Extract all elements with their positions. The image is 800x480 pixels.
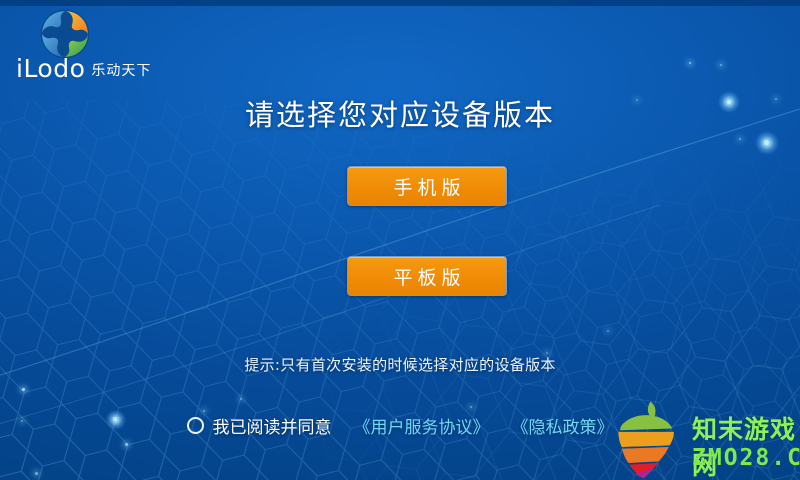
app-screen: iLodo 乐动天下 请选择您对应设备版本 手机版 平板版 提示:只有首次安装的… bbox=[0, 0, 800, 480]
ilodo-swirl-logo-icon bbox=[39, 8, 91, 60]
privacy-policy-link[interactable]: 《隐私政策》 bbox=[512, 413, 614, 438]
brand-logo: iLodo 乐动天下 bbox=[14, 6, 174, 84]
phone-version-button[interactable]: 手机版 bbox=[347, 166, 507, 206]
logo-english-text: iLodo bbox=[16, 56, 85, 81]
agreement-label: 我已阅读并同意 bbox=[213, 413, 332, 438]
page-title: 请选择您对应设备版本 bbox=[0, 92, 800, 134]
install-hint-text: 提示:只有首次安装的时候选择对应的设备版本 bbox=[0, 354, 800, 375]
agreement-checkbox[interactable] bbox=[187, 417, 204, 434]
logo-chinese-text: 乐动天下 bbox=[91, 64, 151, 81]
user-service-agreement-link[interactable]: 《用户服务协议》 bbox=[354, 413, 490, 438]
tablet-version-button[interactable]: 平板版 bbox=[347, 256, 507, 296]
agreement-row: 我已阅读并同意 《用户服务协议》 《隐私政策》 bbox=[0, 413, 800, 438]
